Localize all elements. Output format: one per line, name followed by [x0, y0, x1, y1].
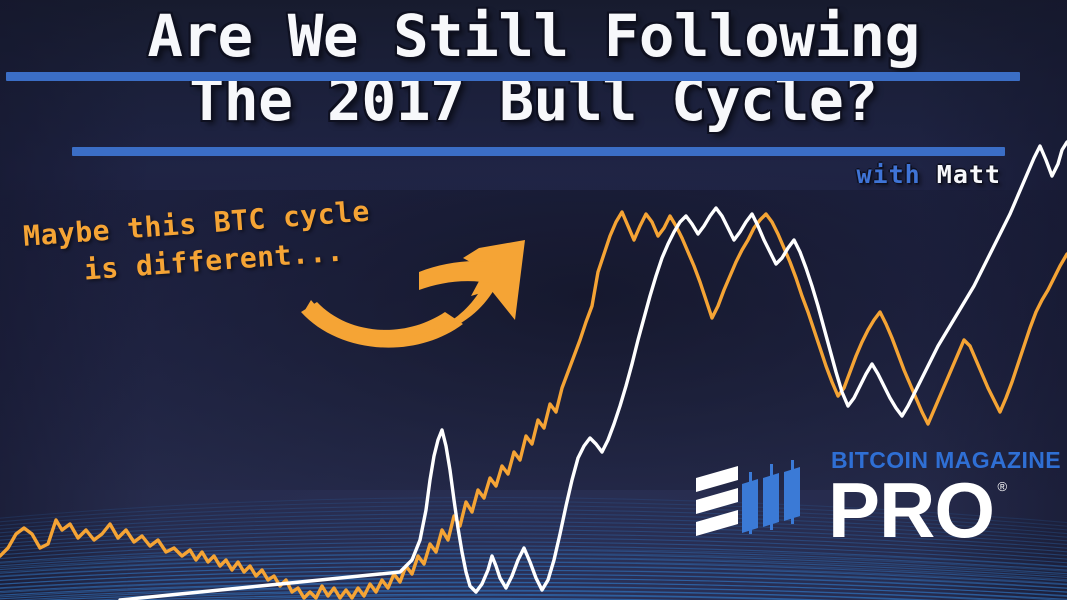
byline-with-label: with: [857, 160, 921, 189]
title-line-1: Are We Still Following: [0, 4, 1067, 68]
bitcoin-magazine-candlestick-mark-icon: [694, 458, 814, 548]
title-underline-2: [72, 147, 1005, 156]
byline: with Matt: [857, 160, 1002, 189]
title-block: Are We Still Following The 2017 Bull Cyc…: [0, 0, 1067, 132]
registered-trademark-icon: ®: [997, 480, 1007, 493]
curved-arrow-up-right-icon: [295, 228, 535, 358]
bitcoin-magazine-pro-logo: BITCOIN MAGAZINE PRO ®: [694, 448, 1061, 548]
title-underline-1: [6, 72, 1020, 81]
logo-brand-main: PRO: [828, 472, 994, 548]
logo-brand-main-wrap: PRO ®: [828, 472, 994, 548]
video-thumbnail: Are We Still Following The 2017 Bull Cyc…: [0, 0, 1067, 600]
byline-host-name: Matt: [937, 160, 1001, 189]
logo-text-block: BITCOIN MAGAZINE PRO ®: [828, 448, 1061, 548]
